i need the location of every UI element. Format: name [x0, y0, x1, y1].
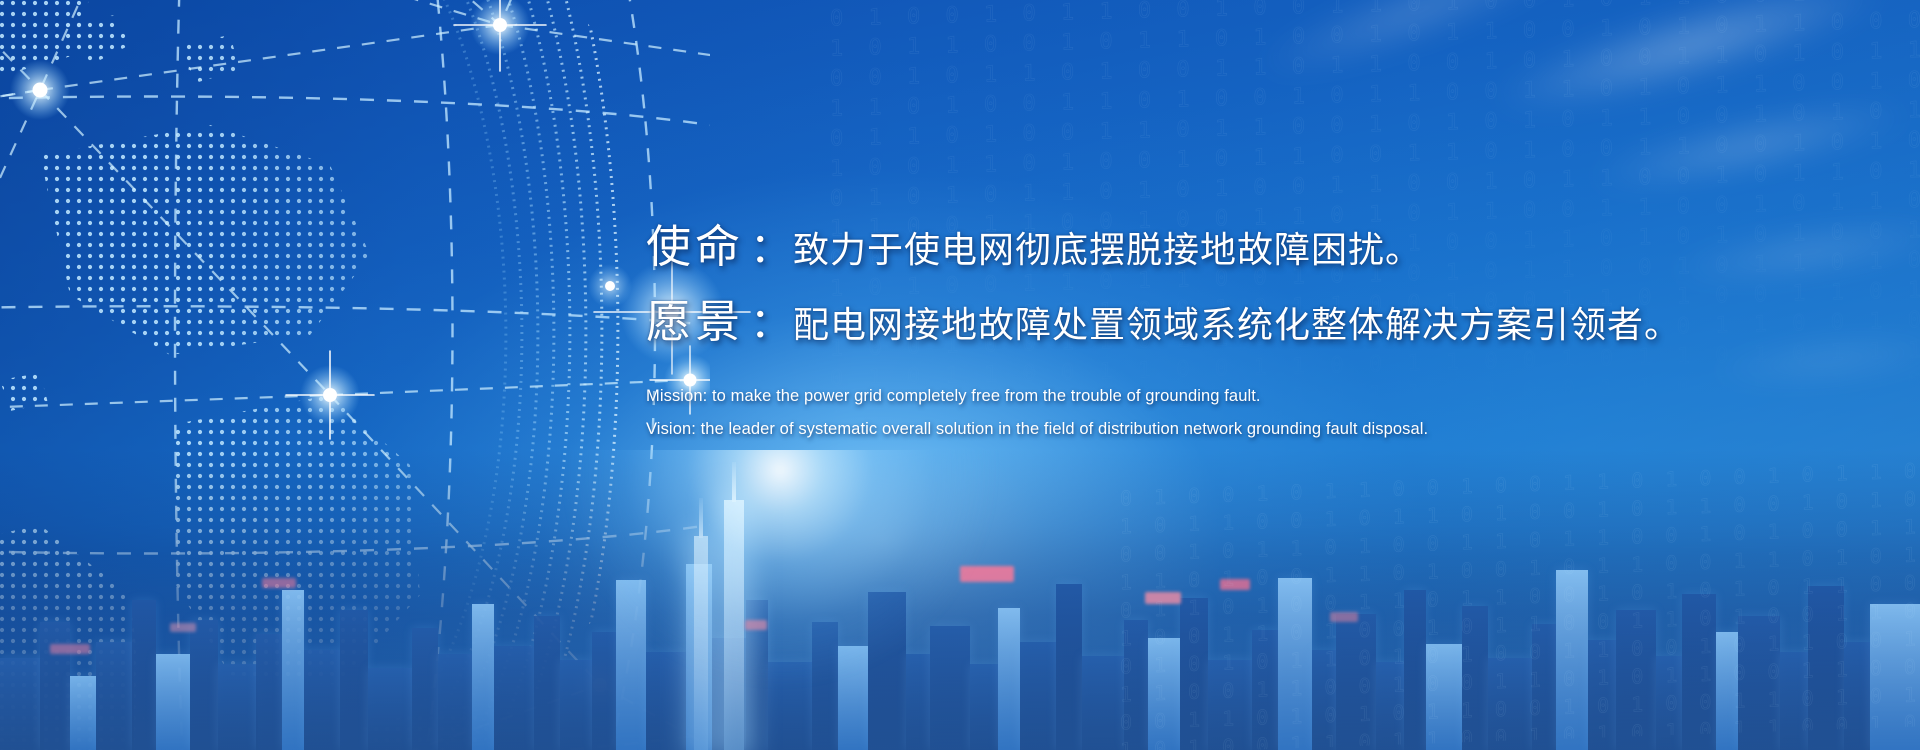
english-subtitle-group: Mission: to make the power grid complete…: [646, 380, 1876, 446]
vision-line-en: Vision: the leader of systematic overall…: [646, 413, 1876, 446]
binary-pattern-bottom: 0 1 0 0 1 0 1 1 0 0 1 0 0 1 1 0 1 0 0 1 …: [1120, 456, 1920, 750]
mission-label-cn: 使命: [646, 210, 744, 275]
mission-colon: ：: [744, 214, 793, 274]
mission-line-en: Mission: to make the power grid complete…: [646, 380, 1876, 413]
vision-line-cn: 愿景 ： 配电网接地故障处置领域系统化整体解决方案引领者。: [646, 285, 1876, 350]
mission-vision-text-block: 使命 ： 致力于使电网彻底摆脱接地故障困扰。 愿景 ： 配电网接地故障处置领域系…: [646, 210, 1876, 446]
vision-label-cn: 愿景: [646, 285, 744, 350]
vision-text-cn: 配电网接地故障处置领域系统化整体解决方案引领者。: [793, 296, 1681, 348]
mission-text-cn: 致力于使电网彻底摆脱接地故障困扰。: [793, 221, 1422, 273]
mission-line-cn: 使命 ： 致力于使电网彻底摆脱接地故障困扰。: [646, 210, 1876, 275]
vision-colon: ：: [744, 289, 793, 349]
hero-banner: 0 1 0 0 1 0 1 1 0 0 1 0 0 1 1 0 1 0 0 1 …: [0, 0, 1920, 750]
